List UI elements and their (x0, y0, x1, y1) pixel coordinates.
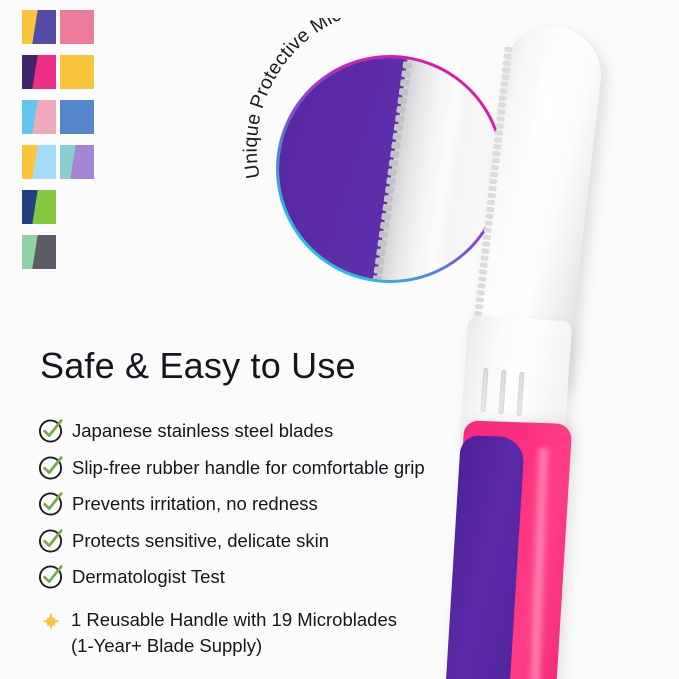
swatch-pink[interactable] (60, 10, 94, 44)
micro-guard-tooth (396, 106, 406, 114)
cover-comb-tooth (503, 60, 512, 66)
feature-item: Dermatologist Test (38, 564, 508, 590)
cover-comb-tooth (498, 102, 507, 108)
cover-comb-tooth (485, 213, 494, 219)
swatch-yellow[interactable] (60, 55, 94, 89)
swatch-color-a (60, 10, 94, 44)
micro-guard-tooth (390, 150, 400, 158)
swatch-yellow-skyblue[interactable] (22, 145, 56, 179)
sparkle-star-icon (38, 609, 64, 635)
check-circle-icon (38, 419, 63, 444)
swatch-mint-gray[interactable] (22, 235, 56, 269)
page-title: Safe & Easy to Use (40, 345, 356, 387)
micro-guard-tooth (377, 239, 387, 247)
cover-comb-tooth (483, 234, 492, 240)
cover-comb-tooth (482, 241, 491, 247)
micro-guard-tooth (386, 177, 396, 185)
cover-comb-tooth (489, 179, 498, 185)
bonus-line-2: (1-Year+ Blade Supply) (71, 633, 397, 659)
check-circle-icon (38, 492, 63, 517)
micro-guard-tooth (394, 124, 404, 132)
bonus-callout: 1 Reusable Handle with 19 Microblades (1… (38, 607, 397, 659)
micro-guard-tooth (395, 115, 405, 123)
swatch-purple-magenta[interactable] (22, 55, 56, 89)
micro-guard-tooth (389, 159, 399, 167)
cover-comb-tooth (475, 304, 484, 310)
swatch-teal-violet[interactable] (60, 145, 94, 179)
micro-guard-tooth (375, 257, 385, 265)
feature-label: Protects sensitive, delicate skin (72, 528, 329, 553)
swatch-navy-green[interactable] (22, 190, 56, 224)
check-circle-icon (38, 565, 63, 590)
cover-comb-tooth (476, 297, 485, 303)
micro-guard-tooth (376, 248, 386, 256)
feature-label: Dermatologist Test (72, 564, 225, 589)
micro-guard-tooth (381, 213, 391, 221)
cover-comb-tooth (491, 165, 500, 171)
feature-label: Prevents irritation, no redness (72, 491, 318, 516)
cover-comb-tooth (502, 67, 511, 73)
feature-item: Japanese stainless steel blades (38, 418, 508, 444)
micro-guard-tooth (397, 97, 407, 105)
micro-guard-tooth (380, 222, 390, 230)
cover-comb-tooth (478, 276, 487, 282)
cover-comb-tooth (490, 172, 499, 178)
cover-comb-tooth (488, 186, 497, 192)
cover-comb-tooth (499, 88, 508, 94)
cover-comb-tooth (484, 220, 493, 226)
micro-guard-tooth (401, 70, 411, 78)
cover-comb-tooth (484, 227, 493, 233)
cover-comb-tooth (496, 116, 505, 122)
check-circle-icon (38, 456, 63, 481)
micro-guard-tooth (399, 88, 409, 96)
cover-comb-tooth (504, 46, 513, 52)
micro-guard-tooth (374, 266, 384, 274)
feature-label: Japanese stainless steel blades (72, 418, 333, 443)
cover-comb-tooth (503, 53, 512, 59)
micro-guard-tooth (372, 275, 382, 280)
cover-comb-tooth (491, 158, 500, 164)
check-circle-icon (38, 529, 63, 554)
cover-comb-tooth (501, 74, 510, 80)
cover-comb-tooth (480, 255, 489, 261)
feature-label: Slip-free rubber handle for comfortable … (72, 455, 425, 480)
feature-item: Slip-free rubber handle for comfortable … (38, 455, 508, 481)
feature-item: Protects sensitive, delicate skin (38, 528, 508, 554)
bonus-text: 1 Reusable Handle with 19 Microblades (1… (71, 607, 397, 659)
micro-guard-tooth (379, 231, 389, 239)
cover-comb-tooth (487, 200, 496, 206)
micro-guard-tooth (392, 132, 402, 140)
cover-comb-tooth (500, 81, 509, 87)
cover-comb-tooth (497, 109, 506, 115)
product-infographic: Unique Protective Micro Guards Safe & Ea… (0, 0, 679, 679)
micro-guard-tooth (404, 58, 414, 60)
micro-guard-tooth (385, 186, 395, 194)
micro-guard-tooth (382, 204, 392, 212)
swatch-color-a (60, 55, 94, 89)
cover-comb-tooth (476, 290, 485, 296)
swatch-color-a (60, 100, 94, 134)
micro-guard-tooth (391, 141, 401, 149)
feature-item: Prevents irritation, no redness (38, 491, 508, 517)
cover-comb-tooth (486, 206, 495, 212)
bonus-line-1: 1 Reusable Handle with 19 Microblades (71, 609, 397, 630)
micro-guard-tooth (384, 195, 394, 203)
cover-comb-tooth (481, 248, 490, 254)
cover-comb-tooth (477, 283, 486, 289)
cover-comb-tooth (479, 269, 488, 275)
feature-list: Japanese stainless steel bladesSlip-free… (38, 418, 508, 601)
cover-comb-tooth (493, 144, 502, 150)
cover-comb-tooth (488, 193, 497, 199)
cover-comb-tooth (499, 95, 508, 101)
micro-guard-tooth (387, 168, 397, 176)
micro-guard-tooth (400, 79, 410, 87)
micro-guard-tooth (402, 61, 412, 69)
cover-comb-tooth (494, 137, 503, 143)
cover-comb-tooth (495, 130, 504, 136)
cover-comb-tooth (492, 151, 501, 157)
swatch-skyblue-pink[interactable] (22, 100, 56, 134)
swatch-blue[interactable] (60, 100, 94, 134)
cover-comb-tooth (480, 262, 489, 268)
cover-comb-tooth (495, 123, 504, 129)
swatch-yellow-purple[interactable] (22, 10, 56, 44)
